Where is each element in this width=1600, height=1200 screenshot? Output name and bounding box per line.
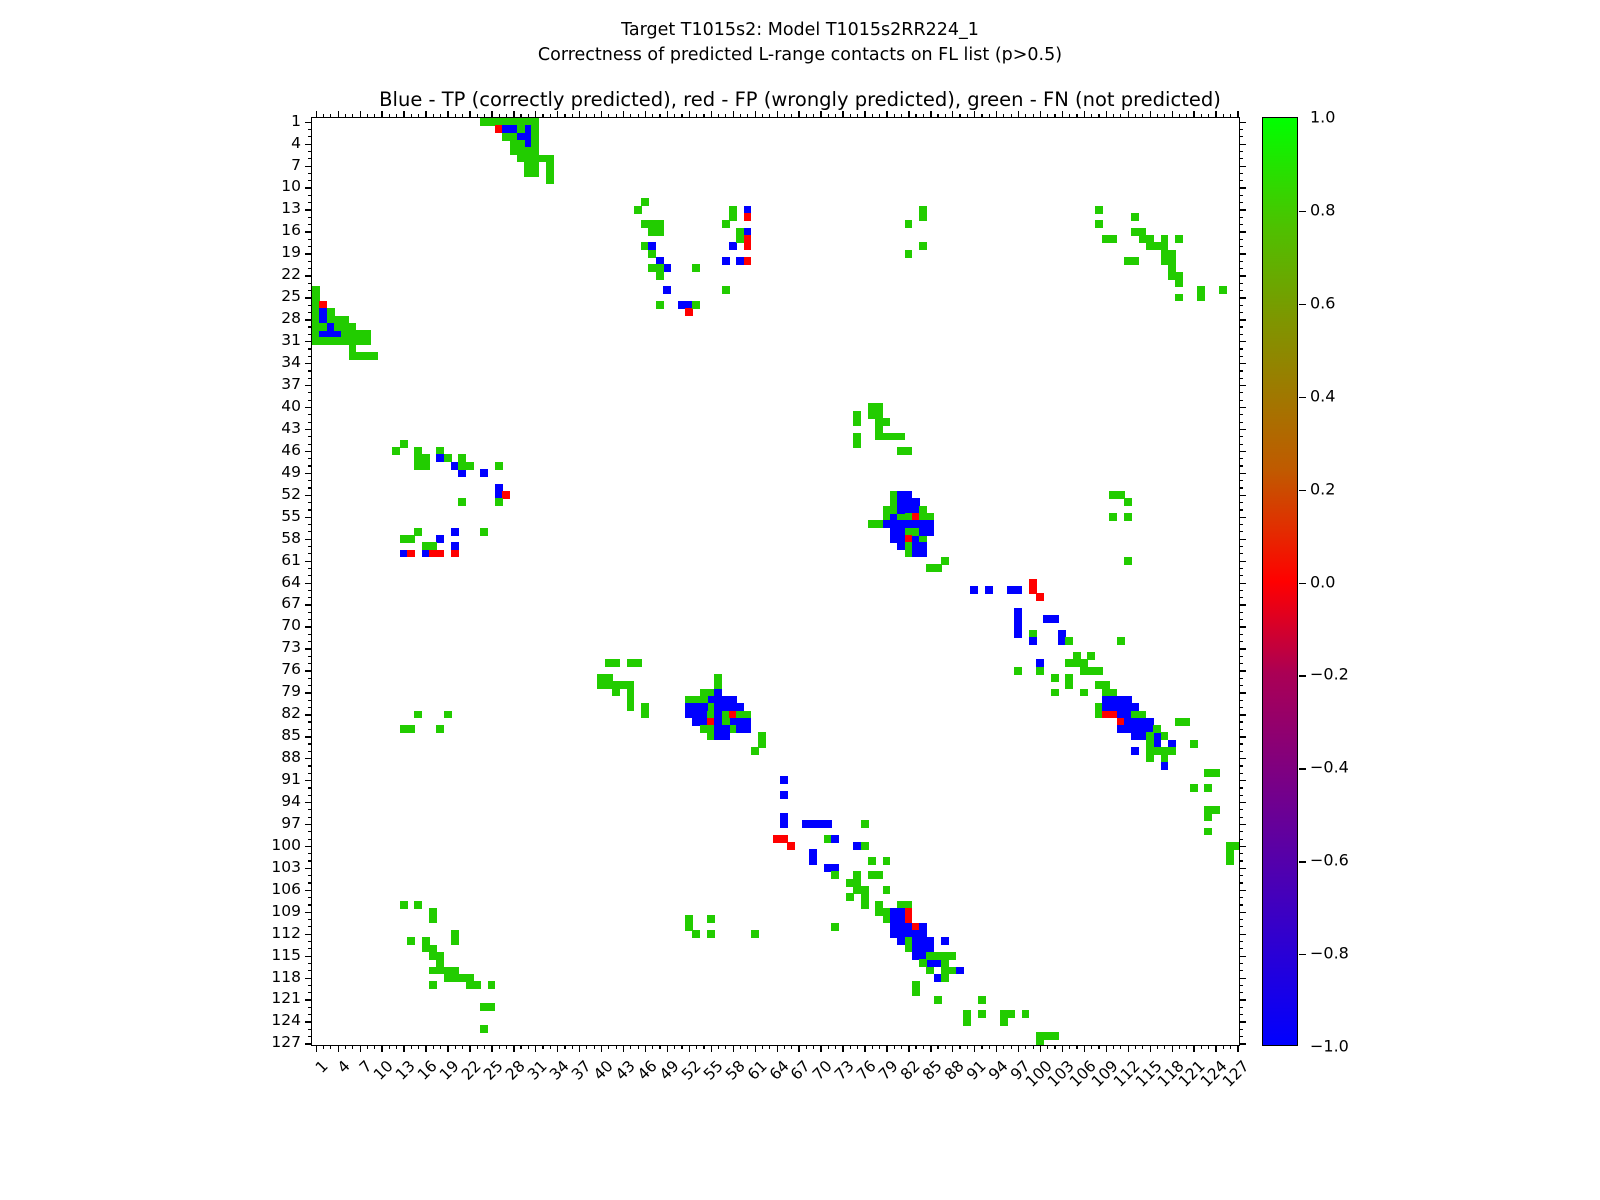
contact-cell xyxy=(363,337,371,345)
contact-cell xyxy=(751,930,759,938)
contact-cell xyxy=(744,725,752,733)
x-axis-minor-tick xyxy=(1135,114,1136,118)
x-axis-major-tick xyxy=(930,111,931,118)
x-axis-minor-tick xyxy=(828,114,829,118)
y-axis-minor-tick xyxy=(1239,795,1243,796)
y-axis-minor-tick xyxy=(1239,641,1243,642)
y-axis-tick-label: 22 xyxy=(181,265,301,283)
x-axis-major-tick xyxy=(447,111,448,118)
y-axis-minor-tick xyxy=(308,326,312,327)
y-axis-minor-tick xyxy=(1239,553,1243,554)
x-axis-minor-tick xyxy=(850,114,851,118)
y-axis-major-tick xyxy=(1239,670,1246,671)
y-axis-major-tick xyxy=(1239,187,1246,188)
contact-cell xyxy=(905,220,913,228)
x-axis-major-tick xyxy=(974,1045,975,1052)
x-axis-minor-tick xyxy=(959,1045,960,1049)
x-axis-major-tick xyxy=(1193,111,1194,118)
y-axis-major-tick xyxy=(1239,1021,1246,1022)
contact-cell xyxy=(787,842,795,850)
y-axis-major-tick xyxy=(305,429,312,430)
figure-title: Target T1015s2: Model T1015s2RR224_1 Cor… xyxy=(0,18,1600,68)
x-axis-major-tick xyxy=(601,111,602,118)
x-axis-major-tick xyxy=(1062,111,1063,118)
x-axis-minor-tick xyxy=(586,114,587,118)
x-axis-minor-tick xyxy=(499,114,500,118)
x-axis-minor-tick xyxy=(1025,114,1026,118)
contact-cell xyxy=(436,725,444,733)
x-axis-minor-tick xyxy=(572,1045,573,1049)
x-axis-minor-tick xyxy=(462,114,463,118)
y-axis-minor-tick xyxy=(1239,941,1243,942)
x-axis-minor-tick xyxy=(330,1045,331,1049)
contact-cell xyxy=(1212,806,1220,814)
y-axis-tick-label: 43 xyxy=(181,419,301,437)
y-axis-major-tick xyxy=(1239,275,1246,276)
y-axis-minor-tick xyxy=(308,480,312,481)
y-axis-minor-tick xyxy=(308,465,312,466)
x-axis-major-tick xyxy=(1084,111,1085,118)
y-axis-minor-tick xyxy=(1239,400,1243,401)
y-axis-minor-tick xyxy=(1239,458,1243,459)
x-axis-major-tick xyxy=(1193,1045,1194,1052)
y-axis-minor-tick xyxy=(1239,817,1243,818)
x-axis-minor-tick xyxy=(345,114,346,118)
contact-cell xyxy=(1131,747,1139,755)
y-axis-tick-label: 118 xyxy=(181,968,301,986)
y-axis-minor-tick xyxy=(308,348,312,349)
y-axis-tick-label: 88 xyxy=(181,748,301,766)
x-axis-minor-tick xyxy=(462,1045,463,1049)
x-axis-minor-tick xyxy=(703,1045,704,1049)
x-axis-major-tick xyxy=(842,1045,843,1052)
y-axis-major-tick xyxy=(305,670,312,671)
contact-cell xyxy=(1051,674,1059,682)
legend-subtitle: Blue - TP (correctly predicted), red - F… xyxy=(0,88,1600,111)
contact-cell xyxy=(627,703,635,711)
x-axis-minor-tick xyxy=(659,1045,660,1049)
x-axis-minor-tick xyxy=(725,1045,726,1049)
x-axis-major-tick xyxy=(1172,1045,1173,1052)
contact-cell xyxy=(883,857,891,865)
x-axis-minor-tick xyxy=(1157,1045,1158,1049)
y-axis-minor-tick xyxy=(1239,158,1243,159)
contact-cell xyxy=(1124,557,1132,565)
contact-cell xyxy=(780,791,788,799)
y-axis-major-tick xyxy=(1239,978,1246,979)
contact-cell xyxy=(1095,206,1103,214)
y-axis-minor-tick xyxy=(1239,261,1243,262)
x-axis-minor-tick xyxy=(806,1045,807,1049)
y-axis-minor-tick xyxy=(1239,751,1243,752)
y-axis-minor-tick xyxy=(1239,904,1243,905)
y-axis-minor-tick xyxy=(1239,948,1243,949)
x-axis-major-tick xyxy=(381,111,382,118)
contact-cell xyxy=(1124,513,1132,521)
contact-cell xyxy=(729,242,737,250)
x-axis-major-tick xyxy=(996,1045,997,1052)
y-axis-tick-label: 31 xyxy=(181,331,301,349)
contact-cell xyxy=(875,871,883,879)
contact-cell xyxy=(780,820,788,828)
contact-cell xyxy=(1190,784,1198,792)
contact-cell xyxy=(875,425,883,433)
x-axis-minor-tick xyxy=(806,114,807,118)
x-axis-major-tick xyxy=(1215,1045,1216,1052)
x-axis-minor-tick xyxy=(1135,1045,1136,1049)
x-axis-minor-tick xyxy=(901,114,902,118)
y-axis-major-tick xyxy=(305,824,312,825)
contact-cell xyxy=(1080,689,1088,697)
contact-cell xyxy=(831,871,839,879)
x-axis-minor-tick xyxy=(1054,114,1055,118)
contact-cell xyxy=(656,228,664,236)
contact-cell xyxy=(495,498,503,506)
x-axis-minor-tick xyxy=(433,114,434,118)
y-axis-major-tick xyxy=(1239,209,1246,210)
y-axis-major-tick xyxy=(1239,122,1246,123)
y-axis-minor-tick xyxy=(308,195,312,196)
y-axis-minor-tick xyxy=(1239,524,1243,525)
y-axis-minor-tick xyxy=(308,985,312,986)
y-axis-minor-tick xyxy=(1239,787,1243,788)
colorbar-tick xyxy=(1299,768,1306,769)
x-axis-major-tick xyxy=(952,111,953,118)
y-axis-tick-label: 82 xyxy=(181,704,301,722)
contact-cell xyxy=(480,469,488,477)
colorbar[interactable] xyxy=(1262,117,1298,1046)
y-axis-minor-tick xyxy=(308,656,312,657)
x-axis-minor-tick xyxy=(506,1045,507,1049)
y-axis-minor-tick xyxy=(1239,707,1243,708)
contact-cell xyxy=(722,220,730,228)
colorbar-tick xyxy=(1299,954,1306,955)
contact-cell xyxy=(897,433,905,441)
contact-cell xyxy=(941,959,949,967)
x-axis-minor-tick xyxy=(1142,114,1143,118)
contact-cell xyxy=(436,550,444,558)
x-axis-minor-tick xyxy=(894,1045,895,1049)
x-axis-minor-tick xyxy=(915,1045,916,1049)
x-axis-minor-tick xyxy=(1208,1045,1209,1049)
y-axis-minor-tick xyxy=(1239,487,1243,488)
x-axis-major-tick xyxy=(820,111,821,118)
contact-cell xyxy=(656,301,664,309)
colorbar-tick-label: −0.2 xyxy=(1310,665,1349,684)
contact-cell xyxy=(1095,667,1103,675)
x-axis-minor-tick xyxy=(542,114,543,118)
contact-cell xyxy=(1161,235,1169,243)
contact-cell xyxy=(853,418,861,426)
y-axis-major-tick xyxy=(305,539,312,540)
contact-cell xyxy=(780,776,788,784)
y-axis-minor-tick xyxy=(1239,839,1243,840)
y-axis-major-tick xyxy=(1239,846,1246,847)
contact-cell xyxy=(531,169,539,177)
x-axis-major-tick xyxy=(864,1045,865,1052)
x-axis-major-tick xyxy=(996,111,997,118)
contact-cell xyxy=(400,901,408,909)
y-axis-minor-tick xyxy=(308,129,312,130)
contact-map-plot[interactable] xyxy=(311,117,1240,1046)
x-axis-minor-tick xyxy=(418,114,419,118)
contact-cell xyxy=(371,352,379,360)
x-axis-major-tick xyxy=(842,111,843,118)
contact-cell xyxy=(458,498,466,506)
y-axis-minor-tick xyxy=(1239,180,1243,181)
x-axis-minor-tick xyxy=(520,114,521,118)
contact-cell xyxy=(1182,718,1190,726)
contact-cell xyxy=(429,967,437,975)
y-axis-major-tick xyxy=(1239,648,1246,649)
x-axis-minor-tick xyxy=(1186,114,1187,118)
y-axis-minor-tick xyxy=(1239,246,1243,247)
y-axis-major-tick xyxy=(1239,583,1246,584)
contact-cell xyxy=(1153,725,1161,733)
y-axis-minor-tick xyxy=(308,312,312,313)
y-axis-minor-tick xyxy=(308,897,312,898)
contact-cell xyxy=(480,528,488,536)
contact-cell xyxy=(868,857,876,865)
contact-cell xyxy=(1168,250,1176,258)
y-axis-minor-tick xyxy=(308,590,312,591)
y-axis-minor-tick xyxy=(1239,224,1243,225)
y-axis-minor-tick xyxy=(1239,860,1243,861)
y-axis-tick-label: 91 xyxy=(181,770,301,788)
y-axis-minor-tick xyxy=(1239,612,1243,613)
y-axis-tick-label: 127 xyxy=(181,1033,301,1051)
contact-cell xyxy=(392,447,400,455)
y-axis-major-tick xyxy=(305,648,312,649)
x-axis-major-tick xyxy=(820,1045,821,1052)
x-axis-minor-tick xyxy=(740,114,741,118)
x-axis-major-tick xyxy=(557,1045,558,1052)
y-axis-minor-tick xyxy=(1239,239,1243,240)
y-axis-tick-label: 109 xyxy=(181,902,301,920)
y-axis-minor-tick xyxy=(1239,992,1243,993)
y-axis-minor-tick xyxy=(308,678,312,679)
y-axis-tick-label: 40 xyxy=(181,397,301,415)
contact-cell xyxy=(831,835,839,843)
y-axis-minor-tick xyxy=(308,246,312,247)
contact-cell xyxy=(926,528,934,536)
x-axis-minor-tick xyxy=(528,114,529,118)
contact-cell xyxy=(905,250,913,258)
y-axis-minor-tick xyxy=(308,641,312,642)
y-axis-major-tick xyxy=(305,122,312,123)
y-axis-minor-tick xyxy=(308,860,312,861)
y-axis-minor-tick xyxy=(308,509,312,510)
x-axis-minor-tick xyxy=(586,1045,587,1049)
x-axis-minor-tick xyxy=(374,1045,375,1049)
y-axis-major-tick xyxy=(1239,407,1246,408)
contact-cell xyxy=(612,659,620,667)
y-axis-minor-tick xyxy=(1239,1014,1243,1015)
y-axis-major-tick xyxy=(1239,692,1246,693)
x-axis-minor-tick xyxy=(1076,114,1077,118)
x-axis-major-tick xyxy=(1106,1045,1107,1052)
y-axis-minor-tick xyxy=(1239,312,1243,313)
y-axis-major-tick xyxy=(1239,385,1246,386)
y-axis-minor-tick xyxy=(1239,436,1243,437)
contact-cell xyxy=(1204,784,1212,792)
x-axis-minor-tick xyxy=(769,1045,770,1049)
contact-cell xyxy=(919,242,927,250)
y-axis-minor-tick xyxy=(1239,356,1243,357)
x-axis-minor-tick xyxy=(323,114,324,118)
contact-cell xyxy=(934,564,942,572)
y-axis-minor-tick xyxy=(308,882,312,883)
y-axis-tick-label: 94 xyxy=(181,792,301,810)
y-axis-minor-tick xyxy=(308,553,312,554)
y-axis-minor-tick xyxy=(308,809,312,810)
contact-cell xyxy=(861,820,869,828)
contact-cell xyxy=(978,1010,986,1018)
y-axis-minor-tick xyxy=(308,817,312,818)
colorbar-tick xyxy=(1299,397,1306,398)
x-axis-minor-tick xyxy=(477,1045,478,1049)
y-axis-minor-tick xyxy=(308,414,312,415)
x-axis-minor-tick xyxy=(1230,1045,1231,1049)
y-axis-minor-tick xyxy=(308,173,312,174)
x-axis-major-tick xyxy=(513,1045,514,1052)
x-axis-minor-tick xyxy=(1223,114,1224,118)
x-axis-minor-tick xyxy=(630,114,631,118)
contact-cell xyxy=(897,447,905,455)
y-axis-minor-tick xyxy=(308,158,312,159)
contact-cell xyxy=(414,711,422,719)
colorbar-tick xyxy=(1299,490,1306,491)
x-axis-minor-tick xyxy=(1120,114,1121,118)
contact-cell xyxy=(1051,615,1059,623)
x-axis-minor-tick xyxy=(857,1045,858,1049)
y-axis-minor-tick xyxy=(308,597,312,598)
x-axis-minor-tick xyxy=(594,114,595,118)
x-axis-minor-tick xyxy=(718,114,719,118)
x-axis-major-tick xyxy=(338,111,339,118)
contact-cell xyxy=(1190,740,1198,748)
contact-cell xyxy=(1007,1010,1015,1018)
y-axis-minor-tick xyxy=(1239,831,1243,832)
y-axis-major-tick xyxy=(1239,144,1246,145)
x-axis-minor-tick xyxy=(506,114,507,118)
colorbar-tick-label: −0.8 xyxy=(1310,944,1349,963)
x-axis-minor-tick xyxy=(1011,1045,1012,1049)
x-axis-major-tick xyxy=(1018,1045,1019,1052)
y-axis-minor-tick xyxy=(308,619,312,620)
x-axis-minor-tick xyxy=(725,114,726,118)
contact-cell xyxy=(458,469,466,477)
x-axis-major-tick xyxy=(623,111,624,118)
y-axis-minor-tick xyxy=(308,839,312,840)
y-axis-major-tick xyxy=(1239,890,1246,891)
y-axis-major-tick xyxy=(1239,517,1246,518)
y-axis-major-tick xyxy=(305,341,312,342)
y-axis-tick-label: 76 xyxy=(181,660,301,678)
contact-cell xyxy=(905,447,913,455)
y-axis-minor-tick xyxy=(1239,283,1243,284)
y-axis-minor-tick xyxy=(1239,721,1243,722)
x-axis-major-tick xyxy=(360,1045,361,1052)
contact-cell xyxy=(1146,754,1154,762)
x-axis-minor-tick xyxy=(828,1045,829,1049)
x-axis-minor-tick xyxy=(564,114,565,118)
x-axis-minor-tick xyxy=(674,1045,675,1049)
contact-cell xyxy=(641,198,649,206)
y-axis-tick-label: 70 xyxy=(181,616,301,634)
y-axis-minor-tick xyxy=(308,685,312,686)
x-axis-minor-tick xyxy=(477,114,478,118)
y-axis-minor-tick xyxy=(308,180,312,181)
y-axis-minor-tick xyxy=(308,524,312,525)
x-axis-major-tick xyxy=(447,1045,448,1052)
contact-cell xyxy=(1014,667,1022,675)
y-axis-minor-tick xyxy=(308,370,312,371)
x-axis-minor-tick xyxy=(762,1045,763,1049)
contact-cell xyxy=(641,711,649,719)
x-axis-minor-tick xyxy=(528,1045,529,1049)
x-axis-minor-tick xyxy=(923,114,924,118)
y-axis-major-tick xyxy=(1239,166,1246,167)
y-axis-minor-tick xyxy=(1239,634,1243,635)
y-axis-minor-tick xyxy=(1239,765,1243,766)
y-axis-minor-tick xyxy=(308,305,312,306)
contact-cell xyxy=(1036,667,1044,675)
contact-cell xyxy=(1212,769,1220,777)
x-axis-minor-tick xyxy=(784,1045,785,1049)
y-axis-minor-tick xyxy=(1239,414,1243,415)
x-axis-minor-tick xyxy=(784,114,785,118)
y-axis-minor-tick xyxy=(308,136,312,137)
y-axis-major-tick xyxy=(1239,253,1246,254)
contact-cell xyxy=(861,842,869,850)
contact-cell xyxy=(429,981,437,989)
x-axis-minor-tick xyxy=(989,1045,990,1049)
y-axis-major-tick xyxy=(1239,758,1246,759)
x-axis-minor-tick xyxy=(1098,114,1099,118)
x-axis-minor-tick xyxy=(1179,114,1180,118)
colorbar-tick xyxy=(1299,304,1306,305)
contact-cell xyxy=(634,206,642,214)
contact-cell xyxy=(978,996,986,1004)
x-axis-major-tick xyxy=(733,111,734,118)
x-axis-major-tick xyxy=(667,111,668,118)
x-axis-minor-tick xyxy=(937,114,938,118)
contact-cell xyxy=(656,272,664,280)
x-axis-minor-tick xyxy=(323,1045,324,1049)
y-axis-tick-label: 64 xyxy=(181,573,301,591)
y-axis-minor-tick xyxy=(1239,882,1243,883)
x-axis-minor-tick xyxy=(718,1045,719,1049)
y-axis-minor-tick xyxy=(1239,326,1243,327)
y-axis-major-tick xyxy=(305,890,312,891)
x-axis-minor-tick xyxy=(520,1045,521,1049)
contact-cell xyxy=(1051,689,1059,697)
y-axis-minor-tick xyxy=(308,970,312,971)
contact-cell xyxy=(1014,586,1022,594)
x-axis-minor-tick xyxy=(1164,114,1165,118)
contact-cell xyxy=(905,945,913,953)
y-axis-major-tick xyxy=(305,604,312,605)
contact-cell xyxy=(429,945,437,953)
colorbar-tick xyxy=(1299,861,1306,862)
colorbar-tick xyxy=(1299,675,1306,676)
y-axis-major-tick xyxy=(1239,495,1246,496)
x-axis-minor-tick xyxy=(703,114,704,118)
y-axis-minor-tick xyxy=(308,926,312,927)
x-axis-minor-tick xyxy=(967,1045,968,1049)
y-axis-minor-tick xyxy=(1239,480,1243,481)
